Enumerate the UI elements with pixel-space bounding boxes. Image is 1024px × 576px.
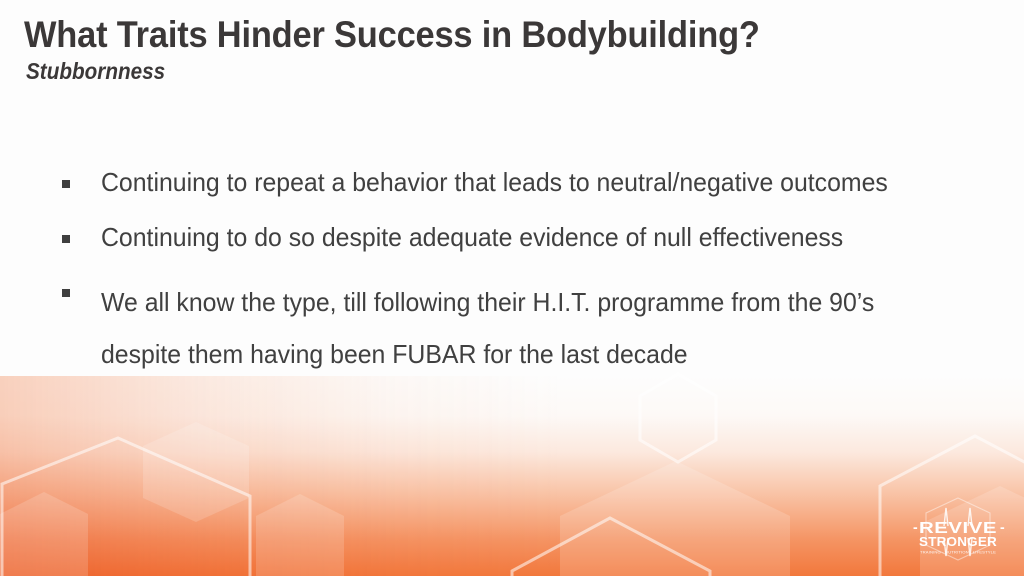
square-bullet-icon	[62, 235, 70, 243]
revive-stronger-logo: - REVIVE - STRONGER TRAINING · NUTRITION…	[906, 496, 1010, 562]
slide: What Traits Hinder Success in Bodybuildi…	[0, 0, 1024, 576]
logo-brand-bottom: STRONGER	[919, 534, 997, 549]
list-item-label: Continuing to repeat a behavior that lea…	[101, 168, 888, 197]
list-item-label: We all know the type, till following the…	[101, 277, 923, 380]
logo-tagline: TRAINING · NUTRITION · LIFESTYLE	[920, 551, 997, 555]
page-subtitle: Stubbornness	[26, 59, 834, 84]
square-bullet-icon	[62, 180, 70, 188]
logo-dash-right: -	[1000, 519, 1005, 535]
logo-dash-left: -	[913, 519, 918, 535]
list-item-label: Continuing to do so despite adequate evi…	[101, 223, 843, 252]
bullet-list: Continuing to repeat a behavior that lea…	[62, 168, 962, 406]
list-item: Continuing to repeat a behavior that lea…	[62, 168, 962, 197]
title-block: What Traits Hinder Success in Bodybuildi…	[24, 14, 924, 85]
list-item: We all know the type, till following the…	[62, 277, 962, 380]
list-item: Continuing to do so despite adequate evi…	[62, 223, 962, 252]
square-bullet-icon	[62, 289, 70, 297]
page-title: What Traits Hinder Success in Bodybuildi…	[24, 14, 861, 55]
